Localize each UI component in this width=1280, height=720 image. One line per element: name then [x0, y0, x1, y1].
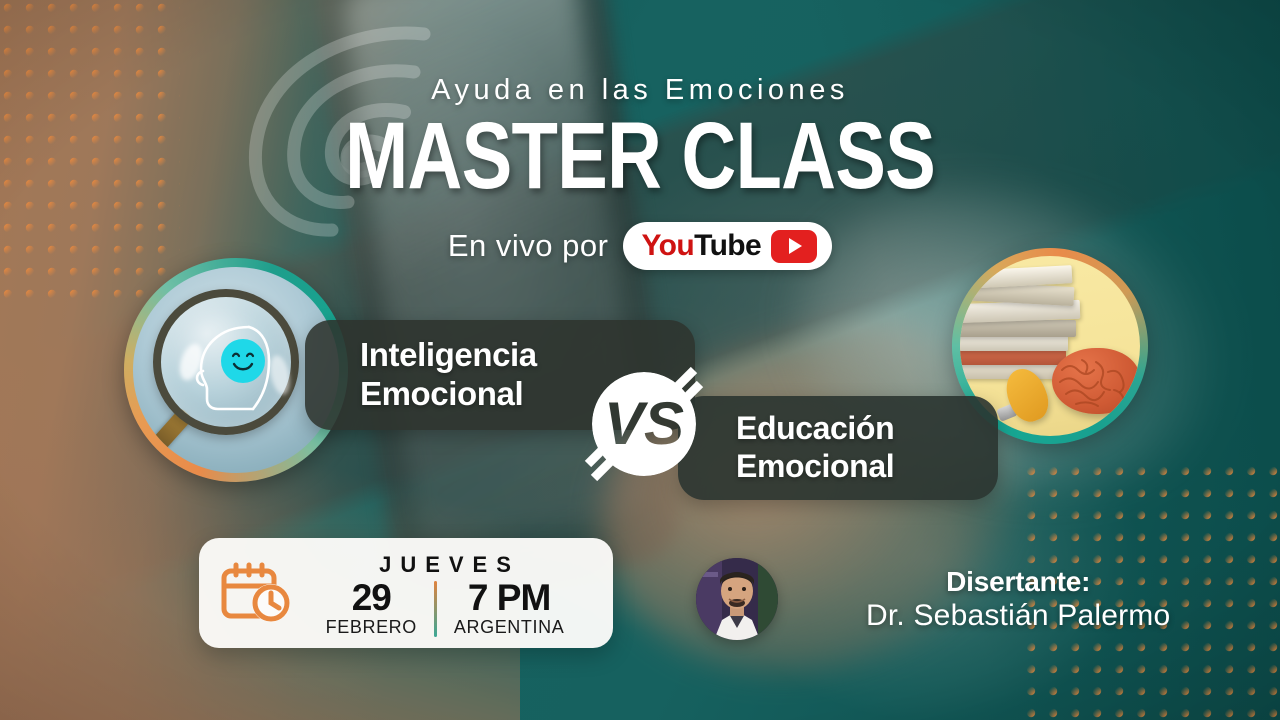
speaker-block: Disertante: Dr. Sebastián Palermo [696, 558, 1170, 640]
date-text-block: JUEVES 29 FEBRERO 7 PM ARGENTINA [293, 548, 613, 638]
topic-left-line2: Emocional [360, 375, 537, 414]
date-day-column: 29 FEBRERO [309, 579, 434, 638]
play-triangle [789, 238, 802, 254]
avatar [696, 558, 778, 640]
page-title: MASTER CLASS [128, 109, 1152, 204]
youtube-badge[interactable]: YouTube [623, 222, 832, 270]
versus-badge: VS [578, 358, 710, 490]
topic-left-text: Inteligencia Emocional [360, 336, 537, 414]
month-label: FEBRERO [326, 617, 417, 638]
speaker-text-block: Disertante: Dr. Sebastián Palermo [866, 566, 1170, 633]
speaker-name: Dr. Sebastián Palermo [866, 599, 1170, 633]
time-value: 7 PM [468, 579, 550, 616]
youtube-word-you: You [641, 229, 694, 262]
youtube-play-icon[interactable] [771, 230, 817, 263]
brain-model [1052, 348, 1140, 414]
topic-right-line1: Educación [736, 410, 894, 448]
timezone-label: ARGENTINA [454, 617, 564, 638]
topic-right-text: Educación Emocional [736, 410, 894, 486]
topic-left-line1: Inteligencia [360, 336, 537, 375]
topic-right-line2: Emocional [736, 448, 894, 486]
date-time-column: 7 PM ARGENTINA [437, 579, 581, 638]
youtube-wordmark: YouTube [641, 229, 761, 263]
header-block: Ayuda en las Emociones MASTER CLASS En v… [0, 0, 1280, 270]
book-stack-item [960, 336, 1068, 351]
date-columns: 29 FEBRERO 7 PM ARGENTINA [309, 579, 582, 638]
weekday-label: JUEVES [370, 552, 520, 578]
topic-pill-right: Educación Emocional [678, 396, 998, 500]
day-number: 29 [352, 579, 391, 616]
book-stack-item [960, 320, 1076, 337]
live-prefix-text: En vivo por [448, 228, 609, 264]
speaker-role-label: Disertante: [946, 566, 1090, 598]
book-stack-item [960, 350, 1066, 365]
smiley-face-icon [221, 339, 265, 383]
event-date-card: JUEVES 29 FEBRERO 7 PM ARGENTINA [199, 538, 613, 648]
poster-canvas: Ayuda en las Emociones MASTER CLASS En v… [0, 0, 1280, 720]
youtube-word-tube: Tube [694, 229, 761, 262]
calendar-clock-icon [219, 562, 293, 624]
